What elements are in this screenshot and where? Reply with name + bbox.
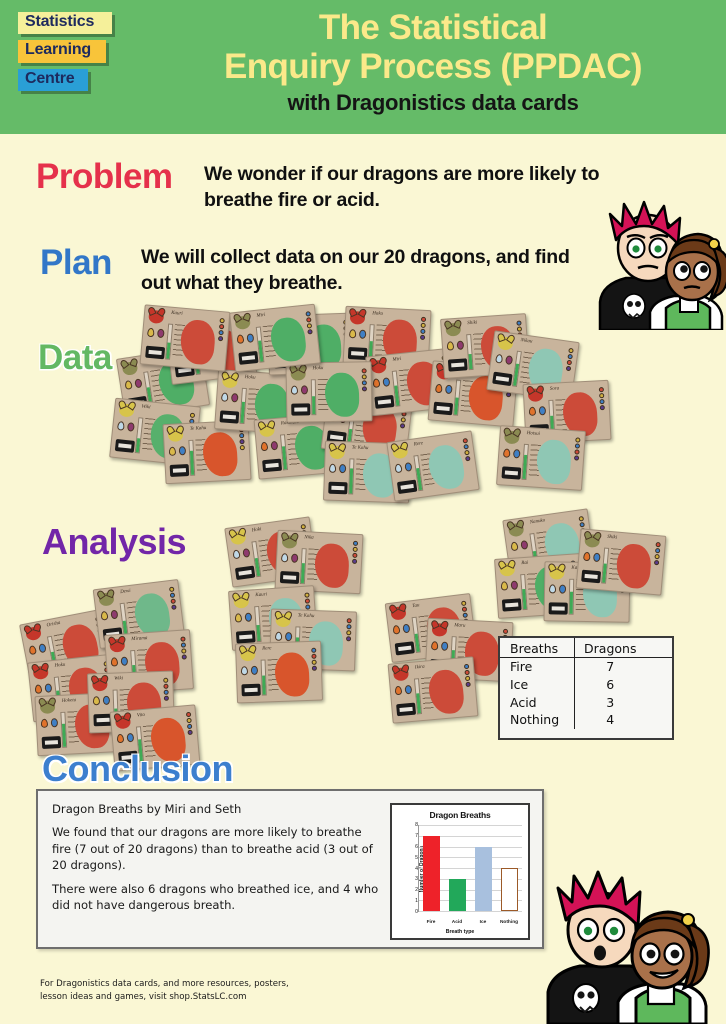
- chart-plot-area: 012345678: [418, 825, 522, 912]
- poster-header: Statistics Learning Centre The Statistic…: [0, 0, 726, 134]
- section-heading-analysis: Analysis: [42, 521, 186, 563]
- dragon-data-card: Hoku: [285, 361, 372, 422]
- table-row: Fire 7: [500, 658, 672, 676]
- logo-badge-statistics: Statistics: [18, 12, 112, 34]
- problem-text: We wonder if our dragons are more likely…: [204, 162, 604, 214]
- chart-x-tick: Acid: [445, 920, 469, 925]
- table-cell-breath: Acid: [500, 694, 574, 712]
- table-cell-breath: Fire: [500, 658, 574, 676]
- table-cell-breath: Nothing: [500, 711, 574, 729]
- chart-y-tick: 6: [415, 844, 418, 850]
- chart-y-tick: 8: [415, 822, 418, 828]
- table-cell-count: 3: [574, 694, 672, 712]
- section-heading-plan: Plan: [40, 243, 112, 283]
- frequency-table: Breaths Dragons Fire 7 Ice 6 Acid 3: [498, 636, 674, 740]
- poster-root: Statistics Learning Centre The Statistic…: [0, 0, 726, 1024]
- chart-bar-nothing: [501, 868, 518, 911]
- chart-title: Dragon Breaths: [392, 810, 528, 820]
- data-card-pile-unsorted: Ninniko Wiki Te Kahu Luana Hoku Rakinuia…: [112, 306, 632, 496]
- report-paragraph-1: We found that our dragons are more likel…: [52, 824, 382, 873]
- dragon-data-card: Ikira: [388, 656, 479, 723]
- table-row: Ice 6: [500, 676, 672, 694]
- footer-line-1: For Dragonistics data cards, and more re…: [40, 978, 370, 991]
- footer-line-2: lesson ideas and games, visit shop.Stats…: [40, 991, 370, 1004]
- chart-x-axis-label: Breath type: [392, 929, 528, 935]
- chart-bar-ice: [475, 847, 492, 912]
- table-cell-count: 4: [574, 711, 672, 729]
- chart-x-tick: Fire: [419, 920, 443, 925]
- chart-bar-fire: [423, 836, 440, 911]
- dragon-data-card: Shiki: [576, 528, 667, 595]
- analysis-group-fire: Orisha Hoku Hoketa Dewi Mirama Wiki Vito: [24, 566, 234, 726]
- chart-y-tick: 3: [415, 876, 418, 882]
- title-block: The Statistical Enquiry Process (PPDAC) …: [150, 8, 716, 116]
- poster-title-line-1: The Statistical: [150, 8, 716, 47]
- logo-badge-centre: Centre: [18, 69, 88, 91]
- poster-title-line-2: Enquiry Process (PPDAC): [150, 47, 716, 86]
- chart-x-tick: Ice: [471, 920, 495, 925]
- conclusion-report-box: Dragon Breaths by Miri and Seth We found…: [36, 789, 544, 949]
- table-row: Nothing 4: [500, 711, 672, 729]
- table-cell-breath: Ice: [500, 676, 574, 694]
- dragon-data-card: Rere: [235, 641, 323, 704]
- table-header-dragons: Dragons: [574, 638, 672, 658]
- table-cell-count: 7: [574, 658, 672, 676]
- table-cell-count: 6: [574, 676, 672, 694]
- analysis-group-middle: Hoki Nika Kauri Te Kahu Rere: [228, 516, 408, 706]
- chart-y-tick: 2: [415, 887, 418, 893]
- dragon-breaths-bar-chart: Dragon Breaths Number of Dragons 0123456…: [390, 803, 530, 940]
- chart-y-tick: 5: [415, 855, 418, 861]
- section-heading-problem: Problem: [36, 157, 173, 197]
- report-paragraph-2: There were also 6 dragons who breathed i…: [52, 881, 382, 914]
- chart-gridline: 0: [419, 911, 522, 912]
- chart-x-tick-labels: FireAcidIceNothing: [418, 920, 522, 925]
- chart-bars: [419, 825, 522, 911]
- chart-y-tick: 0: [415, 909, 418, 915]
- report-title: Dragon Breaths by Miri and Seth: [52, 801, 382, 817]
- chart-y-tick: 1: [415, 898, 418, 904]
- dragon-data-card: Hotsui: [496, 425, 586, 491]
- table-row: Acid 3: [500, 694, 672, 712]
- chart-plot-wrap: Number of Dragons 012345678: [418, 825, 522, 912]
- characters-bottom-happy: [534, 866, 726, 1024]
- conclusion-report-text: Dragon Breaths by Miri and Seth We found…: [52, 801, 382, 921]
- chart-y-tick: 7: [415, 833, 418, 839]
- dragon-data-card: Miri: [229, 304, 321, 373]
- section-heading-data: Data: [38, 338, 112, 378]
- analysis-group-nothing: Nanuko Rai Kai Shiki: [496, 514, 676, 644]
- logo-badge-learning: Learning: [18, 40, 106, 62]
- poster-subtitle: with Dragonistics data cards: [150, 90, 716, 116]
- table-header-breaths: Breaths: [500, 638, 574, 658]
- footer-credit: For Dragonistics data cards, and more re…: [40, 978, 370, 1004]
- chart-x-tick: Nothing: [497, 920, 521, 925]
- statistics-learning-centre-logo: Statistics Learning Centre: [18, 12, 138, 97]
- dragon-data-card: Rere: [386, 430, 480, 501]
- chart-y-tick: 4: [415, 866, 418, 872]
- section-heading-conclusion: Conclusion: [42, 748, 233, 790]
- chart-bar-acid: [449, 879, 466, 911]
- dragon-data-card: Nika: [274, 530, 363, 594]
- table-header-row: Breaths Dragons: [500, 638, 672, 658]
- dragon-data-card: Kauri: [140, 304, 231, 371]
- plan-text: We will collect data on our 20 dragons, …: [141, 245, 571, 297]
